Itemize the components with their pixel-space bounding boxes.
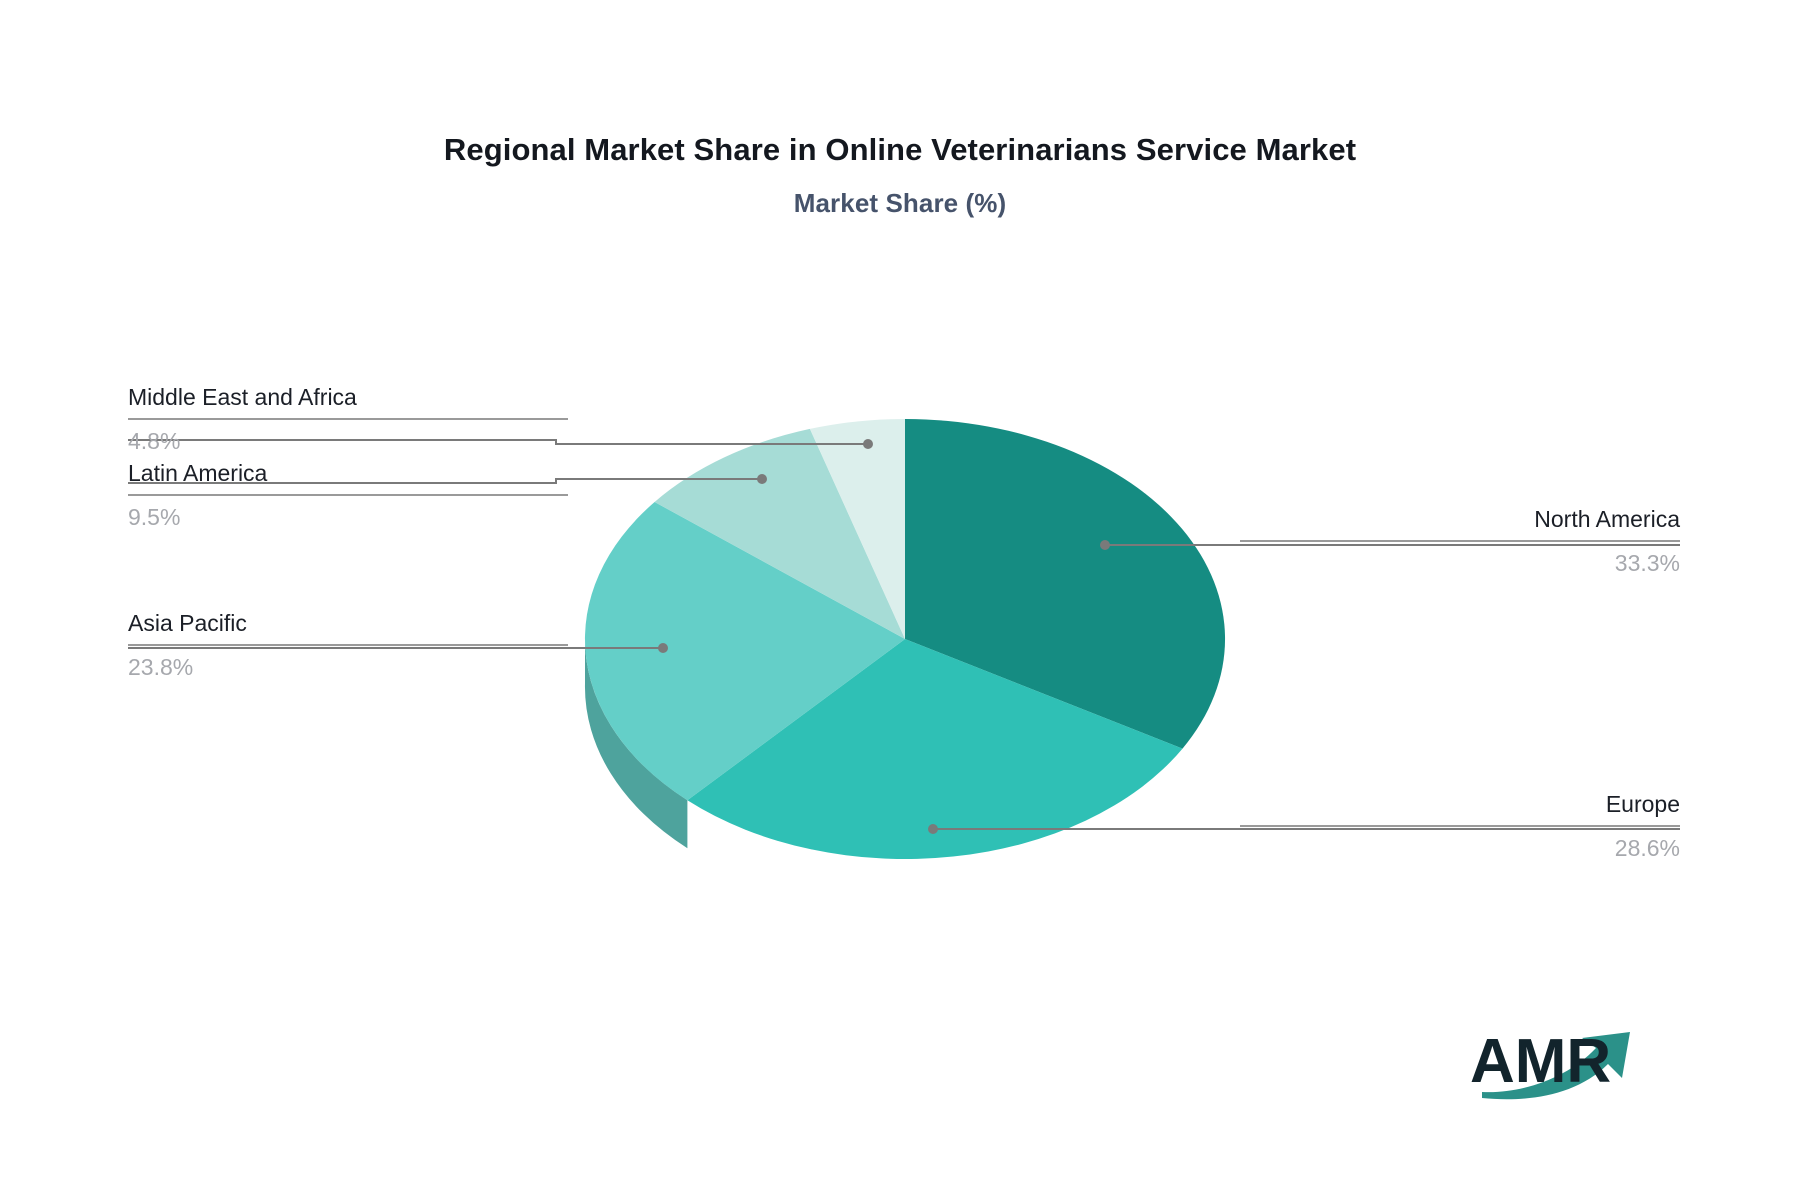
callout-value-middle-east-and-africa: 4.8% xyxy=(128,420,568,453)
amr-logo-text: AMR xyxy=(1470,1027,1611,1096)
amr-logo: AMR xyxy=(1470,1020,1650,1100)
callout-label-asia-pacific: Asia Pacific xyxy=(128,612,568,644)
pie-top-face xyxy=(585,419,1225,859)
callout-label-latin-america: Latin America xyxy=(128,462,568,494)
chart-canvas: Regional Market Share in Online Veterina… xyxy=(0,0,1800,1196)
callout-label-north-america: North America xyxy=(1240,508,1680,540)
leader-dot-north-america xyxy=(1100,540,1110,550)
pie-svg xyxy=(0,0,1800,1196)
callout-middle-east-and-africa: Middle East and Africa 4.8% xyxy=(128,386,568,453)
callout-label-middle-east-and-africa: Middle East and Africa xyxy=(128,386,568,418)
callout-value-latin-america: 9.5% xyxy=(128,496,568,529)
callout-value-asia-pacific: 23.8% xyxy=(128,646,568,679)
callout-value-europe: 28.6% xyxy=(1240,827,1680,860)
leader-dot-europe xyxy=(928,824,938,834)
leader-dot-middle-east-and-africa xyxy=(863,439,873,449)
callout-asia-pacific: Asia Pacific 23.8% xyxy=(128,612,568,679)
leader-dot-asia-pacific xyxy=(658,643,668,653)
callout-latin-america: Latin America 9.5% xyxy=(128,462,568,529)
pie-chart xyxy=(0,0,1800,1196)
callout-value-north-america: 33.3% xyxy=(1240,542,1680,575)
amr-logo-svg: AMR xyxy=(1470,1020,1650,1100)
leader-dot-latin-america xyxy=(757,474,767,484)
callout-north-america: North America 33.3% xyxy=(1240,508,1680,575)
callout-europe: Europe 28.6% xyxy=(1240,793,1680,860)
callout-label-europe: Europe xyxy=(1240,793,1680,825)
